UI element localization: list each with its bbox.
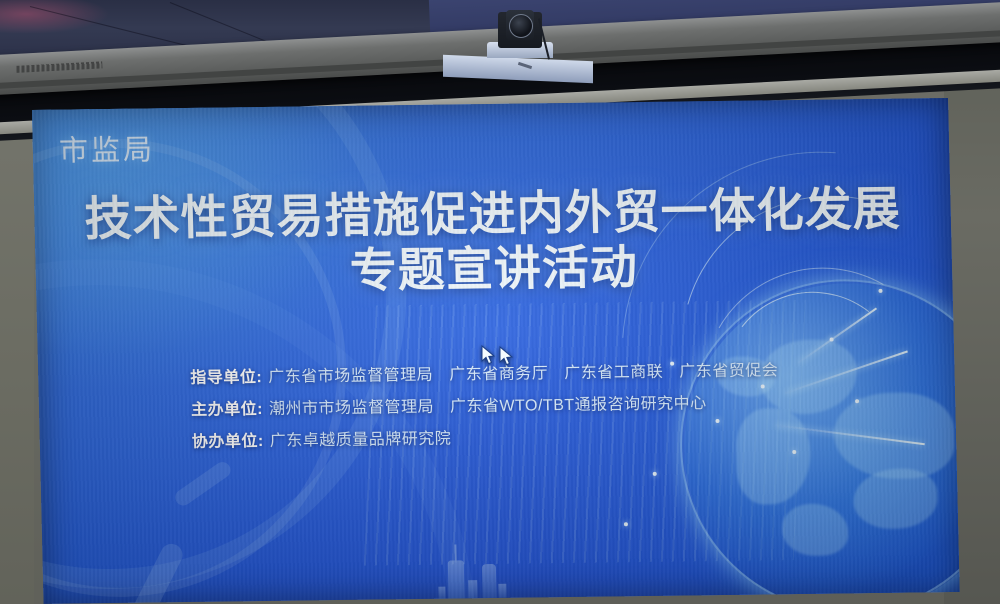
credit-value: 广东卓越质量品牌研究院	[270, 431, 452, 450]
screenshot-stage: 市监局 技术性贸易措施促进内外贸一体化发展 专题宣讲活动 指导单位: 广东省市场…	[0, 0, 1000, 604]
camera-lens-icon	[509, 14, 533, 38]
credit-value: 广东省WTO/TBT通报咨询研究中心	[450, 395, 707, 415]
network-node	[855, 399, 859, 403]
title-line-2: 专题宣讲活动	[35, 235, 952, 303]
credit-label: 指导单位:	[190, 363, 262, 388]
ceiling-light-glow	[0, 0, 110, 34]
building	[438, 587, 445, 599]
credit-value: 广东省工商联	[564, 364, 663, 382]
building	[468, 580, 477, 598]
network-node	[653, 472, 657, 476]
network-node	[830, 338, 834, 342]
credits-block: 指导单位: 广东省市场监督管理局广东省商务厅广东省工商联广东省贸促会 主办单位:…	[190, 356, 796, 460]
city-skyline	[437, 545, 558, 599]
credit-values: 潮州市市场监督管理局广东省WTO/TBT通报咨询研究中心	[269, 389, 723, 419]
credit-label: 协办单位:	[192, 427, 264, 452]
credit-values: 广东卓越质量品牌研究院	[269, 424, 467, 451]
building	[448, 560, 465, 598]
credit-value: 广东省市场监督管理局	[268, 367, 433, 386]
credit-label: 主办单位:	[191, 395, 263, 420]
housing-brand-label	[16, 61, 102, 72]
wall-left-band	[0, 88, 34, 604]
building	[482, 564, 497, 598]
slide-title-block: 技术性贸易措施促进内外贸一体化发展 专题宣讲活动	[34, 182, 953, 303]
credit-value: 潮州市市场监督管理局	[269, 399, 434, 418]
credit-row: 协办单位: 广东卓越质量品牌研究院	[192, 420, 796, 452]
slide-logo: 市监局	[58, 126, 155, 169]
building	[498, 584, 506, 598]
credit-row: 主办单位: 潮州市市场监督管理局广东省WTO/TBT通报咨询研究中心	[191, 388, 795, 420]
network-node	[624, 522, 628, 526]
credit-value: 广东省贸促会	[679, 362, 778, 380]
